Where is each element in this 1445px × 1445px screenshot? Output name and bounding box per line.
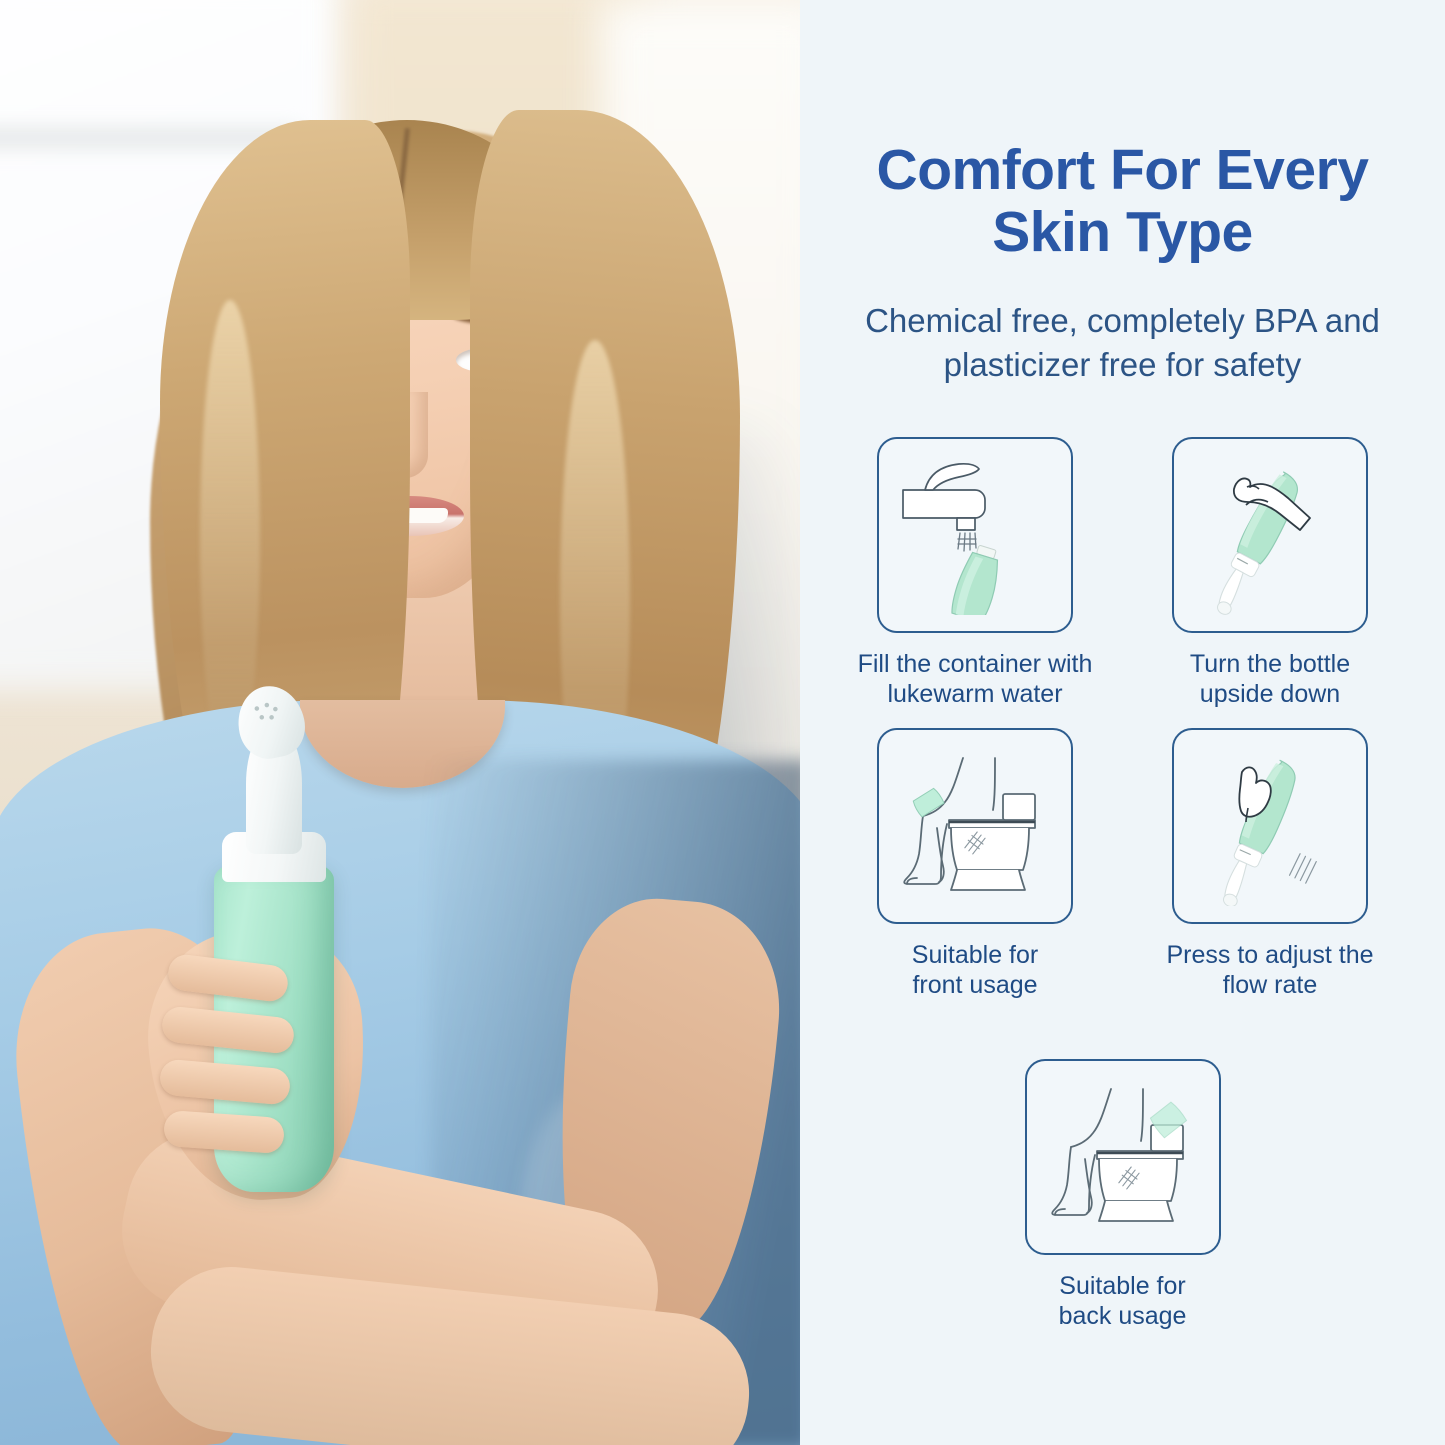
card-label: Suitable for front usage: [855, 940, 1095, 1001]
hand-pressing-bottle-spray-icon: [1190, 746, 1350, 906]
seated-front-usage-icon: [891, 742, 1059, 910]
card-label: Turn the bottle upside down: [1150, 649, 1390, 710]
page-subtitle: Chemical free, completely BPA and plasti…: [800, 299, 1445, 387]
lifestyle-photo: [0, 0, 800, 1445]
info-panel: Comfort For Every Skin Type Chemical fre…: [800, 0, 1445, 1445]
feature-card-adjust-flow: Press to adjust the flow rate: [1170, 728, 1370, 1001]
feature-card-fill-container: Fill the container with lukewarm water: [875, 437, 1075, 710]
page-title: Comfort For Every Skin Type: [800, 140, 1445, 263]
woman-figure: [0, 0, 800, 1445]
icon-box: [1172, 728, 1368, 924]
feature-card-back-usage: Suitable for back usage: [1023, 1059, 1223, 1332]
seated-back-usage-icon: [1039, 1073, 1207, 1241]
icon-box: [877, 437, 1073, 633]
brand-logo: [232, 858, 292, 869]
feature-card-turn-upside-down: Turn the bottle upside down: [1170, 437, 1370, 710]
hand-turning-bottle-icon: [1190, 455, 1350, 615]
feature-card-grid: Fill the container with lukewarm water: [800, 437, 1445, 1001]
card-label: Press to adjust the flow rate: [1150, 940, 1390, 1001]
faucet-filling-bottle-icon: [895, 455, 1055, 615]
card-label: Suitable for back usage: [1003, 1271, 1243, 1332]
icon-box: [1172, 437, 1368, 633]
icon-box: [1025, 1059, 1221, 1255]
icon-box: [877, 728, 1073, 924]
card-label: Fill the container with lukewarm water: [855, 649, 1095, 710]
product-infographic: Comfort For Every Skin Type Chemical fre…: [0, 0, 1445, 1445]
feature-card-row-bottom: Suitable for back usage: [800, 1059, 1445, 1332]
feature-card-front-usage: Suitable for front usage: [875, 728, 1075, 1001]
